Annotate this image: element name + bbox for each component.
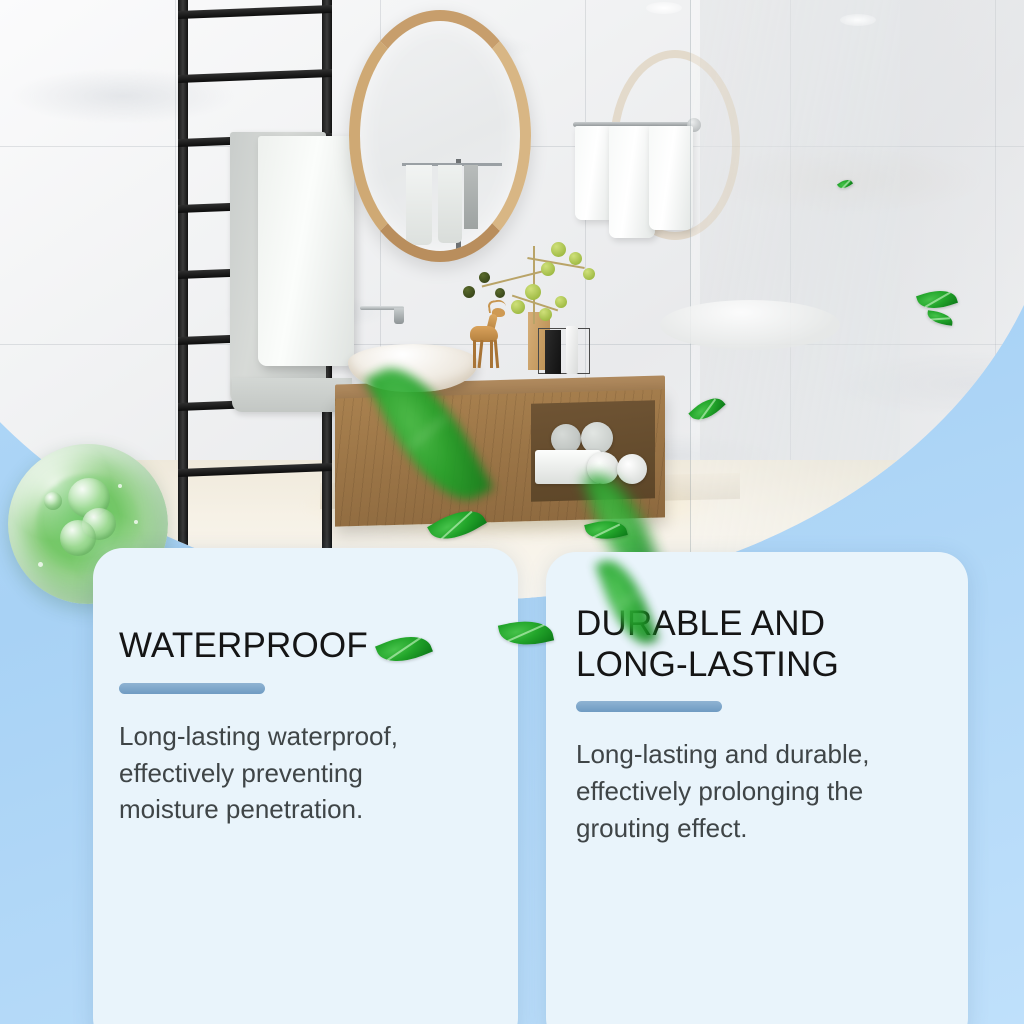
- bathtub: [660, 300, 840, 350]
- berry: [583, 268, 595, 280]
- black-ladder-towel-rack: [170, 0, 340, 550]
- wall-faucet: [360, 300, 406, 330]
- ladder-rung: [178, 5, 332, 19]
- mirror-reflection-towel: [406, 165, 432, 245]
- berry: [539, 308, 552, 321]
- deer-leg: [490, 340, 493, 368]
- card-title: WATERPROOF: [119, 626, 492, 667]
- white-towel: [258, 136, 354, 366]
- wall-towel-bar: [573, 122, 703, 252]
- gel-highlight: [134, 520, 138, 524]
- white-bottle: [566, 326, 578, 374]
- glass-partition: [690, 0, 900, 560]
- gel-inner-bubble: [44, 492, 62, 510]
- hanging-towel: [649, 126, 693, 230]
- card-body-text: Long-lasting and durable, effectively pr…: [576, 736, 921, 847]
- mirror-reflection-towel: [438, 165, 462, 243]
- berry: [495, 288, 505, 298]
- faucet-spout: [394, 308, 404, 324]
- gel-highlight: [118, 484, 122, 488]
- black-bottle: [545, 330, 561, 374]
- deer-leg: [478, 340, 484, 368]
- berry: [525, 284, 541, 300]
- towel-fold: [232, 378, 352, 412]
- ladder-rung: [178, 463, 332, 477]
- ladder-rung: [178, 69, 332, 83]
- feature-card-durable[interactable]: DURABLE AND LONG-LASTING Long-lasting an…: [546, 552, 968, 1024]
- card-body-text: Long-lasting waterproof, effectively pre…: [119, 718, 449, 829]
- green-berry-plant: [455, 238, 605, 334]
- deer-leg: [494, 340, 499, 368]
- gel-highlight: [38, 562, 43, 567]
- berry: [569, 252, 582, 265]
- rolled-towel: [617, 454, 647, 484]
- berry: [541, 262, 555, 276]
- accent-bar: [576, 701, 722, 712]
- accent-bar: [119, 683, 265, 694]
- feature-card-waterproof[interactable]: WATERPROOF Long-lasting waterproof, effe…: [93, 548, 518, 1024]
- ceiling-light-icon: [646, 2, 682, 14]
- berry: [463, 286, 475, 298]
- berry: [555, 296, 567, 308]
- mirror-reflection-towel: [464, 165, 478, 229]
- berry: [511, 300, 525, 314]
- gel-inner-bubble: [60, 520, 96, 556]
- berry: [479, 272, 490, 283]
- deer-leg: [473, 340, 476, 368]
- round-wooden-mirror: [349, 10, 531, 262]
- berry: [551, 242, 566, 257]
